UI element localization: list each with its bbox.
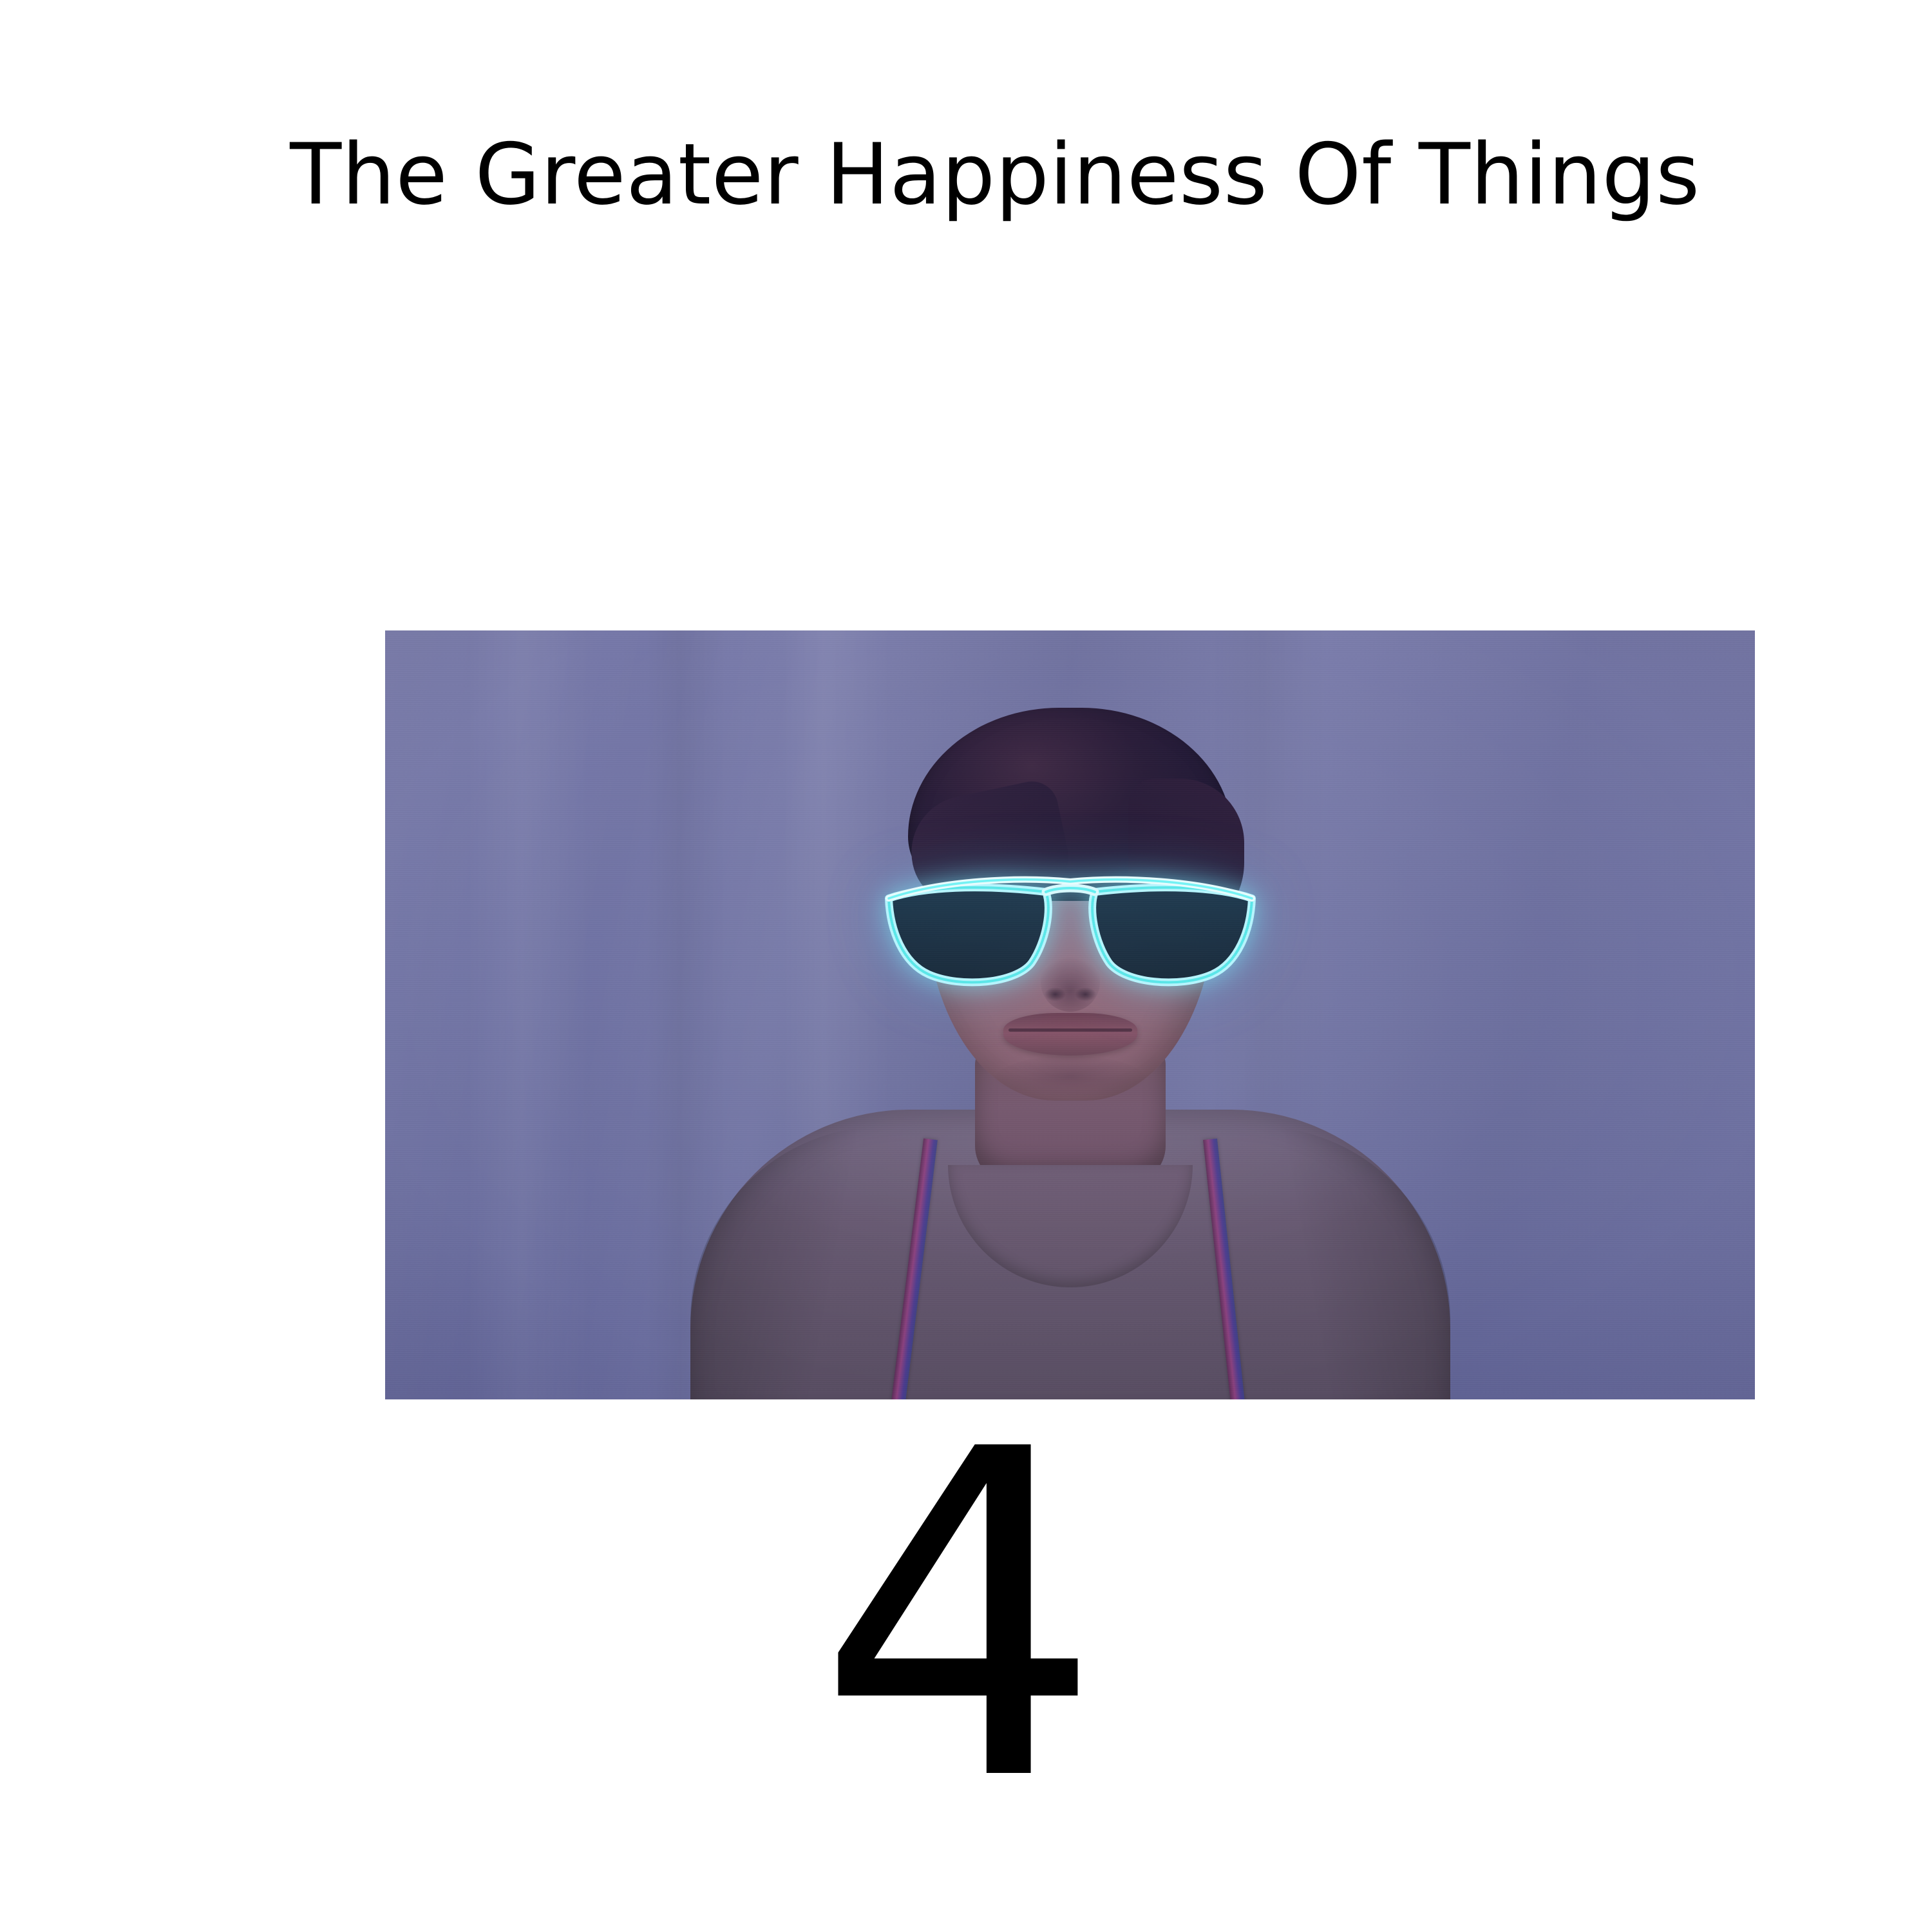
person-subject — [385, 630, 1755, 1399]
neon-sunglasses-icon — [884, 875, 1257, 1004]
mouth — [1003, 1013, 1137, 1056]
slide-number: 4 — [0, 1392, 1919, 1843]
right-shoulder-shade — [1257, 1126, 1450, 1399]
slide-canvas: The Greater Happiness Of Things — [0, 0, 1932, 1932]
mouth-line — [1009, 1028, 1132, 1032]
photo-figure — [385, 630, 1755, 1399]
chin-shadow — [993, 1056, 1148, 1107]
page-title: The Greater Happiness Of Things — [0, 132, 1932, 216]
